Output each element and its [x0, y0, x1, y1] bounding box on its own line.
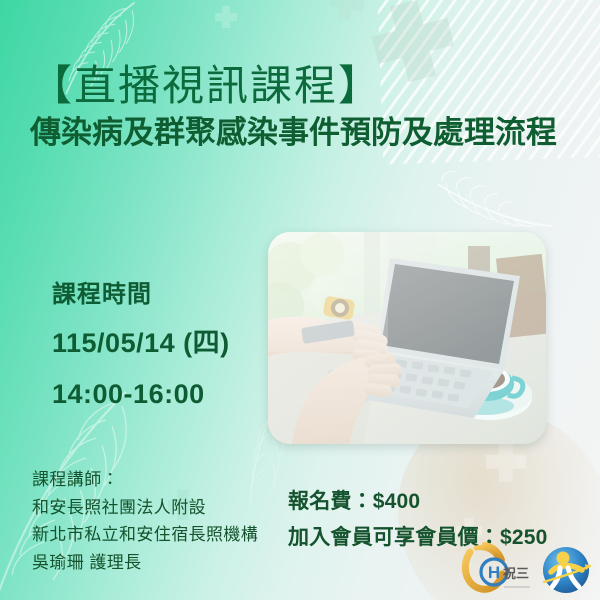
medical-cross-icon	[215, 6, 237, 28]
instructor-name: 吳瑜珊 護理長	[32, 549, 258, 577]
headline-block: 【直播視訊課程】 傳染病及群聚感染事件預防及處理流程	[0, 62, 600, 152]
medical-cross-icon	[327, 0, 367, 23]
medical-cross-icon	[486, 442, 526, 482]
registration-fee: 報名費：$400	[288, 484, 548, 520]
schedule-time: 14:00-16:00	[52, 380, 230, 408]
schedule-date: 115/05/14 (四)	[52, 329, 230, 357]
instructor-org-line1: 和安長照社團法人附設	[32, 494, 258, 522]
logo-group: H 祝三	[460, 542, 594, 598]
sunshine-figure-logo	[538, 542, 594, 598]
poster-canvas: 【直播視訊課程】 傳染病及群聚感染事件預防及處理流程 課程時間 115/05/1…	[0, 0, 600, 600]
hoan-health-logo: H 祝三	[460, 542, 536, 598]
instructor-org-line2: 新北市私立和安住宿長照機構	[32, 521, 258, 549]
schedule-label: 課程時間	[52, 282, 230, 307]
page-subtitle: 傳染病及群聚感染事件預防及處理流程	[30, 115, 600, 152]
photo-overlay-tint	[268, 232, 546, 444]
instructor-block: 課程講師： 和安長照社團法人附設 新北市私立和安住宿長照機構 吳瑜珊 護理長	[32, 466, 258, 576]
laptop-photo	[268, 232, 546, 444]
svg-text:H: H	[488, 563, 500, 582]
page-title: 【直播視訊課程】	[30, 62, 600, 109]
logo-left-text: 祝三	[503, 566, 529, 581]
schedule-block: 課程時間 115/05/14 (四) 14:00-16:00	[52, 282, 230, 408]
instructor-label: 課程講師：	[32, 466, 258, 494]
